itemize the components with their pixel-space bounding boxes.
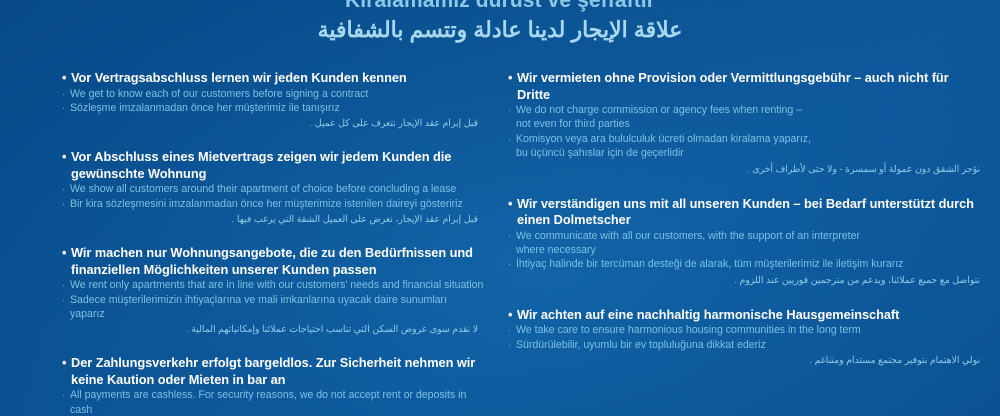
sub-bullet-dot-icon: ·	[508, 132, 516, 146]
bullet-heading: • Vor Vertragsabschluss lernen wir jeden…	[62, 70, 484, 87]
bullet-dot-icon: •	[62, 149, 71, 166]
bullet-subline-en: · We take care to ensure harmonious hous…	[508, 323, 984, 337]
sub-bullet-dot-icon: ·	[62, 101, 70, 115]
bullet-subline-text: Sözleşme imzalanmadan önce her müşterimi…	[70, 101, 484, 115]
bullet-subline-text: bu üçüncü şahıslar için de geçerlidir	[516, 146, 984, 160]
bullet-subline-tr: · Bir kira sözleşmesini imzalanmadan önc…	[62, 197, 484, 211]
bullet-subline-text: We take care to ensure harmonious housin…	[516, 323, 984, 337]
bullet-subline-tr: · İhtiyaç halinde bir tercüman desteği d…	[508, 257, 984, 271]
bullet-heading-text: Der Zahlungsverkehr erfolgt bargeldlos. …	[71, 355, 484, 388]
bullet-heading-text: Wir machen nur Wohnungsangebote, die zu …	[71, 245, 484, 278]
bullet-subline-en: · We do not charge commission or agency …	[508, 103, 984, 117]
bullet-block: • Wir vermieten ohne Provision oder Verm…	[508, 70, 984, 176]
bullet-block: • Vor Vertragsabschluss lernen wir jeden…	[62, 70, 484, 130]
bullet-dot-icon: •	[62, 245, 71, 262]
sub-bullet-dot-icon: ·	[62, 388, 70, 402]
bullet-subline-text: Bir kira sözleşmesini imzalanmadan önce …	[70, 197, 484, 211]
bullet-heading: • Wir achten auf eine nachhaltig harmoni…	[508, 307, 984, 324]
sub-bullet-dot-icon: ·	[508, 338, 516, 352]
bullet-heading: • Vor Abschluss eines Mietvertrags zeige…	[62, 149, 484, 182]
content-columns: • Vor Vertragsabschluss lernen wir jeden…	[0, 70, 1000, 416]
bullet-subline-en: · We rent only apartments that are in li…	[62, 278, 484, 292]
bullet-heading: • Der Zahlungsverkehr erfolgt bargeldlos…	[62, 355, 484, 388]
slide-headline: Kiralamamız dürüst ve şeffaftır علاقة ال…	[0, 0, 1000, 45]
bullet-heading: • Wir vermieten ohne Provision oder Verm…	[508, 70, 984, 103]
bullet-subline-tr: · Sözleşme imzalanmadan önce her müşteri…	[62, 101, 484, 115]
bullet-subline-tr: · Sadece müşterilerimizin ihtiyaçlarına …	[62, 293, 484, 322]
slide-root: Kiralamamız dürüst ve şeffaftır علاقة ال…	[0, 0, 1000, 416]
bullet-heading: • Wir machen nur Wohnungsangebote, die z…	[62, 245, 484, 278]
sub-bullet-dot-icon: ·	[62, 197, 70, 211]
bullet-subline-tr: · Komisyon veya ara bululculuk ücreti ol…	[508, 132, 984, 146]
bullet-dot-icon: •	[508, 196, 517, 213]
bullet-subline-text: We communicate with all our customers, w…	[516, 229, 984, 243]
sub-bullet-dot-icon: ·	[62, 278, 70, 292]
bullet-subline-tr: · Sürdürülebilir, uyumlu bir ev topluluğ…	[508, 338, 984, 352]
bullet-subline-text: All payments are cashless. For security …	[70, 388, 484, 416]
bullet-subline-ar: نتواصل مع جميع عملائنا، ويدعم من مترجمين…	[508, 272, 984, 287]
bullet-subline-ar: قبل إبرام عقد الإيجار، نعرض على العميل ا…	[62, 211, 484, 226]
sub-bullet-dot-icon: ·	[62, 87, 70, 101]
bullet-heading-text: Vor Abschluss eines Mietvertrags zeigen …	[71, 149, 484, 182]
bullet-dot-icon: •	[62, 70, 71, 87]
bullet-dot-icon: •	[508, 307, 517, 324]
sub-bullet-dot-icon: ·	[508, 229, 516, 243]
sub-bullet-dot-icon: ·	[62, 293, 70, 307]
headline-turkish: Kiralamamız dürüst ve şeffaftır	[0, 0, 1000, 12]
sub-bullet-dot-icon: ·	[508, 257, 516, 271]
left-column: • Vor Vertragsabschluss lernen wir jeden…	[0, 70, 500, 416]
sub-bullet-dot-icon: ·	[508, 103, 516, 117]
bullet-heading-text: Wir achten auf eine nachhaltig harmonisc…	[517, 307, 984, 324]
bullet-subline-en-cont: · where necessary	[508, 243, 984, 257]
bullet-subline-en-cont: · not even for third parties	[508, 117, 984, 131]
bullet-subline-text: We show all customers around their apart…	[70, 182, 484, 196]
bullet-block: • Wir achten auf eine nachhaltig harmoni…	[508, 307, 984, 367]
bullet-subline-text: Sürdürülebilir, uyumlu bir ev topluluğun…	[516, 338, 984, 352]
bullet-heading-text: Vor Vertragsabschluss lernen wir jeden K…	[71, 70, 484, 87]
bullet-subline-text: where necessary	[516, 243, 984, 257]
sub-bullet-dot-icon: ·	[508, 323, 516, 337]
bullet-subline-text: We rent only apartments that are in line…	[70, 278, 484, 292]
bullet-block: • Wir verständigen uns mit all unseren K…	[508, 196, 984, 287]
bullet-subline-text: We do not charge commission or agency fe…	[516, 103, 984, 117]
headline-arabic: علاقة الإيجار لدينا عادلة وتتسم بالشفافي…	[0, 15, 1000, 45]
sub-bullet-dot-icon: ·	[62, 182, 70, 196]
right-column: • Wir vermieten ohne Provision oder Verm…	[500, 70, 1000, 416]
bullet-subline-text: Komisyon veya ara bululculuk ücreti olma…	[516, 132, 984, 146]
bullet-subline-en: · We get to know each of our customers b…	[62, 87, 484, 101]
bullet-heading-text: Wir vermieten ohne Provision oder Vermit…	[517, 70, 984, 103]
bullet-block: • Der Zahlungsverkehr erfolgt bargeldlos…	[62, 355, 484, 416]
bullet-subline-en: · We communicate with all our customers,…	[508, 229, 984, 243]
bullet-subline-ar: قبل إبرام عقد الإيجار نتعرف على كل عميل …	[62, 115, 484, 130]
bullet-subline-text: not even for third parties	[516, 117, 984, 131]
bullet-subline-ar: لا نقدم سوى عروض السكن التي تناسب احتياج…	[62, 321, 484, 336]
bullet-subline-en: · All payments are cashless. For securit…	[62, 388, 484, 416]
bullet-block: • Vor Abschluss eines Mietvertrags zeige…	[62, 149, 484, 226]
bullet-subline-tr-cont: · bu üçüncü şahıslar için de geçerlidir	[508, 146, 984, 160]
bullet-subline-text: We get to know each of our customers bef…	[70, 87, 484, 101]
bullet-subline-text: İhtiyaç halinde bir tercüman desteği de …	[516, 257, 984, 271]
bullet-heading: • Wir verständigen uns mit all unseren K…	[508, 196, 984, 229]
bullet-subline-ar: نولي الاهتمام بتوفير مجتمع مستدام ومتناغ…	[508, 352, 984, 367]
bullet-subline-ar: نؤجر الشقق دون عمولة أو سمسرة - ولا حتى …	[508, 161, 984, 176]
bullet-dot-icon: •	[508, 70, 517, 87]
bullet-subline-en: · We show all customers around their apa…	[62, 182, 484, 196]
bullet-heading-text: Wir verständigen uns mit all unseren Kun…	[517, 196, 984, 229]
bullet-dot-icon: •	[62, 355, 71, 372]
bullet-block: • Wir machen nur Wohnungsangebote, die z…	[62, 245, 484, 336]
bullet-subline-text: Sadece müşterilerimizin ihtiyaçlarına ve…	[70, 293, 484, 322]
